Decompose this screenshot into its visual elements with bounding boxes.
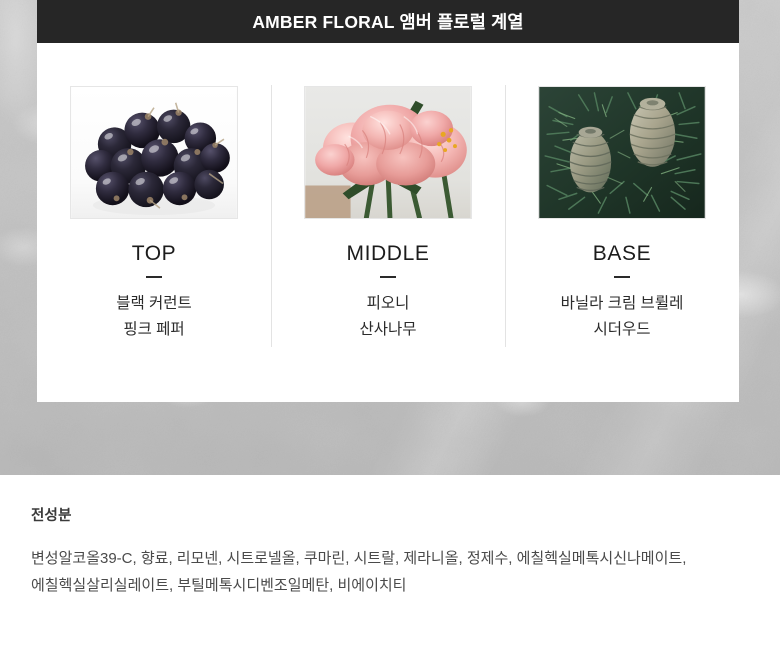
card-header: AMBER FLORAL 앰버 플로럴 계열 [37, 0, 739, 43]
note-ingredient: 시더우드 [561, 317, 684, 343]
ingredients-text: 변성알코올39-C, 향료, 리모넨, 시트로넬올, 쿠마린, 시트랄, 제라니… [31, 546, 750, 599]
note-ingredient: 산사나무 [359, 317, 416, 343]
note-column-middle: MIDDLE 피오니 산사나무 [271, 86, 505, 402]
note-ingredient: 피오니 [359, 291, 416, 317]
note-column-base: BASE 바닐라 크림 브륄레 시더우드 [505, 86, 739, 402]
note-pyramid: TOP 블랙 커런트 핑크 페퍼 [37, 43, 739, 402]
note-ingredient-list: 바닐라 크림 브륄레 시더우드 [561, 291, 684, 342]
note-label: BASE [593, 242, 651, 266]
note-ingredient-list: 피오니 산사나무 [359, 291, 416, 342]
note-divider-dash [614, 276, 630, 278]
ingredients-section: 전성분 변성알코올39-C, 향료, 리모넨, 시트로넬올, 쿠마린, 시트랄,… [0, 475, 780, 648]
note-ingredient: 핑크 페퍼 [116, 317, 192, 343]
page-title: AMBER FLORAL 앰버 플로럴 계열 [252, 9, 523, 34]
ingredients-title: 전성분 [31, 504, 750, 525]
note-divider-dash [380, 276, 396, 278]
cedar-cone-photo [538, 86, 706, 219]
note-ingredient: 블랙 커런트 [116, 291, 192, 317]
note-label: TOP [132, 242, 177, 266]
blackcurrant-photo [70, 86, 238, 219]
peony-photo [304, 86, 472, 219]
note-card: AMBER FLORAL 앰버 플로럴 계열 [37, 0, 739, 402]
note-ingredient: 바닐라 크림 브륄레 [561, 291, 684, 317]
note-label: MIDDLE [347, 242, 430, 266]
note-column-top: TOP 블랙 커런트 핑크 페퍼 [37, 86, 271, 402]
note-ingredient-list: 블랙 커런트 핑크 페퍼 [116, 291, 192, 342]
note-divider-dash [146, 276, 162, 278]
product-note-pyramid-page: AMBER FLORAL 앰버 플로럴 계열 [0, 0, 780, 648]
